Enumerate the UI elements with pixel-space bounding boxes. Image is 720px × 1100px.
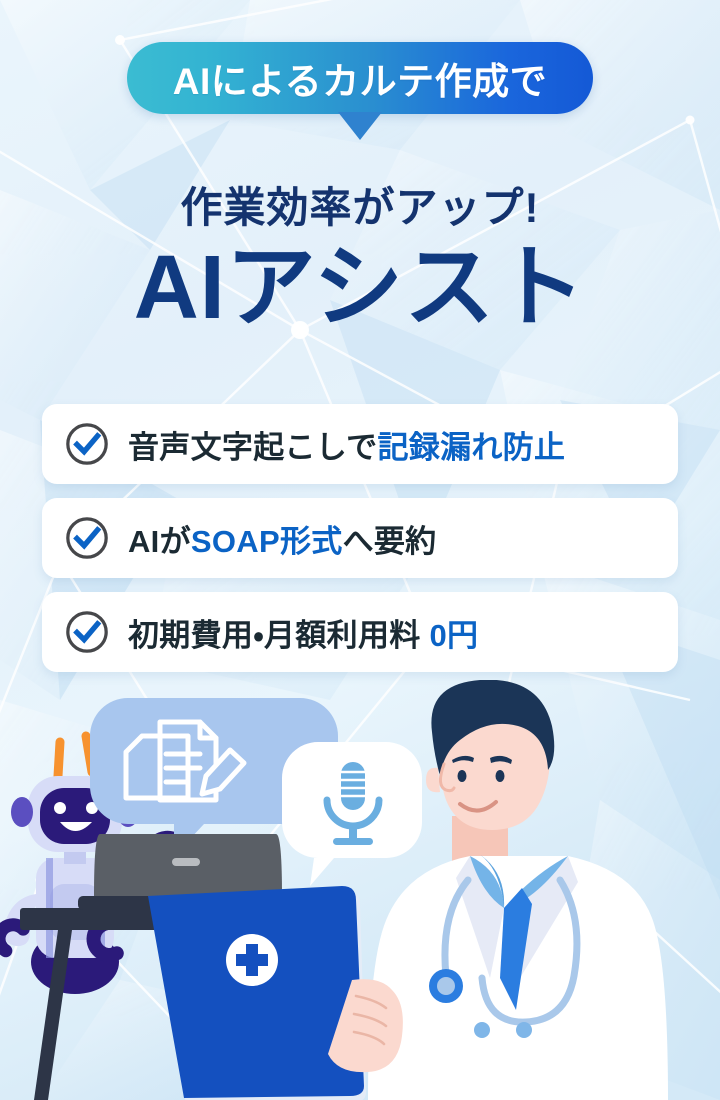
ad-banner: AIによるカルテ作成で 作業効率がアップ! AIアシスト 音声文字起こしで記録漏…	[0, 0, 720, 1100]
check-circle-icon	[64, 609, 110, 655]
feature-text-normal: 音声文字起こしで	[128, 430, 377, 465]
feature-list: 音声文字起こしで記録漏れ防止 AIがSOAP形式へ要約 初期費用・月額利用料 0…	[42, 404, 678, 672]
feature-text-highlight: SOAP形式	[191, 524, 343, 559]
feature-text-highlight: 記録漏れ防止	[377, 430, 565, 465]
page-title: AIアシスト	[0, 240, 720, 337]
list-item: AIがSOAP形式へ要約	[42, 498, 678, 578]
robot-ear-left	[11, 797, 33, 827]
doctor-illustration	[368, 680, 668, 1100]
list-item-label: 初期費用・月額利用料 0円	[128, 610, 478, 655]
doctor-ear	[426, 768, 440, 793]
check-circle-icon	[64, 515, 110, 561]
ribbon-tail-icon	[338, 112, 382, 140]
list-item-label: AIがSOAP形式へ要約	[128, 516, 436, 561]
list-item: 音声文字起こしで記録漏れ防止	[42, 404, 678, 484]
list-item-label: 音声文字起こしで記録漏れ防止	[128, 422, 565, 467]
clipboard-illustration	[148, 886, 403, 1100]
check-circle-icon	[64, 421, 110, 467]
microphone-speech-bubble	[282, 742, 422, 886]
feature-text-highlight: 0円	[429, 618, 478, 653]
subheadline: 作業効率がアップ!	[0, 174, 720, 235]
ribbon-banner: AIによるカルテ作成で	[0, 42, 720, 114]
ribbon-label: AIによるカルテ作成で	[173, 51, 547, 105]
illustration	[0, 680, 720, 1100]
feature-text-normal: AIが	[128, 524, 191, 559]
ribbon-pill: AIによるカルテ作成で	[127, 42, 593, 114]
feature-text-normal-2: へ要約	[343, 524, 437, 559]
feature-text-normal: 初期費用・月額利用料	[128, 618, 429, 653]
robot-eye-left	[54, 802, 66, 814]
list-item: 初期費用・月額利用料 0円	[42, 592, 678, 672]
